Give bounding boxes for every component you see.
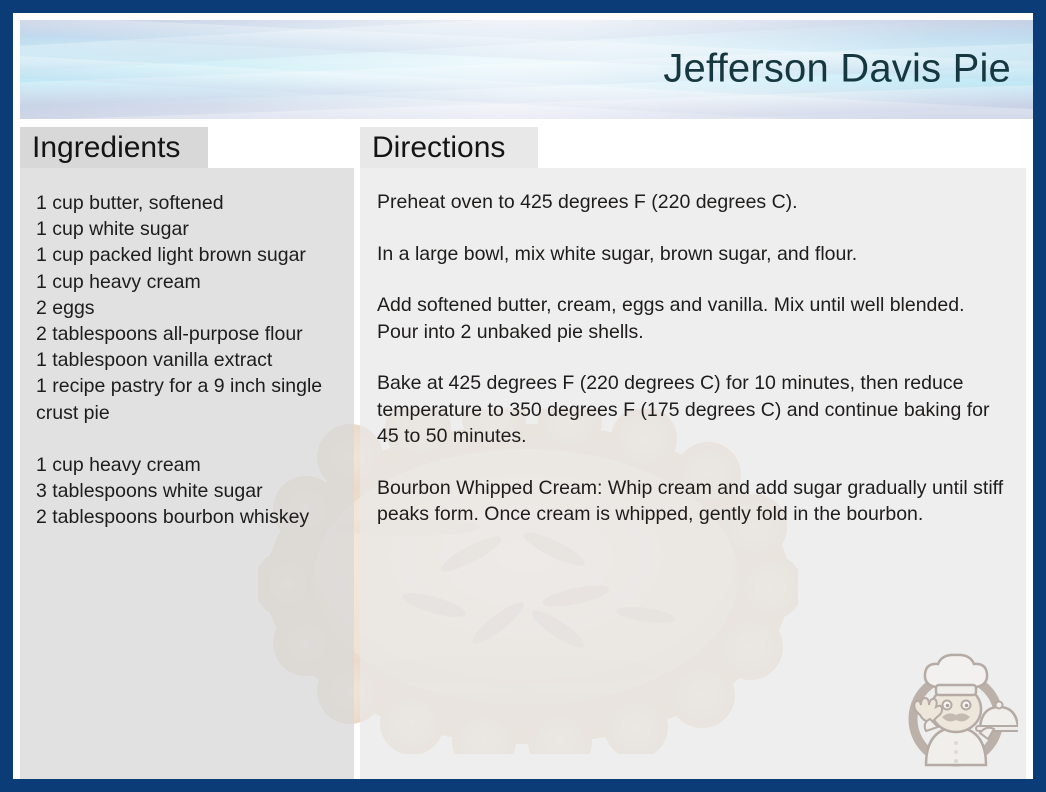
directions-heading: Directions	[372, 133, 505, 163]
directions-list: Preheat oven to 425 degrees F (220 degre…	[360, 168, 1026, 528]
ingredients-panel: Ingredients 1 cup butter, softened 1 cup…	[20, 127, 354, 779]
list-item: 1 cup packed light brown sugar	[36, 242, 344, 268]
ingredients-body: 1 cup butter, softened 1 cup white sugar…	[20, 168, 354, 779]
header-banner: Jefferson Davis Pie	[20, 20, 1033, 119]
recipe-card: Jefferson Davis Pie	[13, 13, 1033, 779]
list-item: 1 cup butter, softened	[36, 190, 344, 216]
list-item: 2 eggs	[36, 295, 344, 321]
directions-heading-tab: Directions	[360, 127, 538, 168]
list-item: 1 tablespoon vanilla extract	[36, 347, 344, 373]
page-title: Jefferson Davis Pie	[663, 46, 1011, 91]
direction-step: Add softened butter, cream, eggs and van…	[377, 292, 1008, 345]
direction-step: Bake at 425 degrees F (220 degrees C) fo…	[377, 370, 1008, 450]
direction-step: In a large bowl, mix white sugar, brown …	[377, 241, 1008, 268]
list-item: 1 cup heavy cream	[36, 269, 344, 295]
list-spacer	[36, 426, 344, 452]
list-item: 2 tablespoons bourbon whiskey	[36, 504, 344, 530]
ingredients-heading: Ingredients	[32, 133, 180, 163]
directions-panel: Directions Preheat oven to 425 degrees F…	[360, 127, 1026, 779]
chef-mascot-logo-icon	[894, 647, 1018, 769]
direction-step: Bourbon Whipped Cream: Whip cream and ad…	[377, 475, 1008, 528]
list-item: 3 tablespoons white sugar	[36, 478, 344, 504]
ingredients-list: 1 cup butter, softened 1 cup white sugar…	[20, 168, 354, 530]
list-item: 1 recipe pastry for a 9 inch single crus…	[36, 373, 344, 425]
ingredients-heading-tab: Ingredients	[20, 127, 208, 168]
list-item: 1 cup white sugar	[36, 216, 344, 242]
recipe-card-frame: Jefferson Davis Pie	[0, 0, 1046, 792]
list-item: 1 cup heavy cream	[36, 452, 344, 478]
list-item: 2 tablespoons all-purpose flour	[36, 321, 344, 347]
direction-step: Preheat oven to 425 degrees F (220 degre…	[377, 189, 1008, 216]
